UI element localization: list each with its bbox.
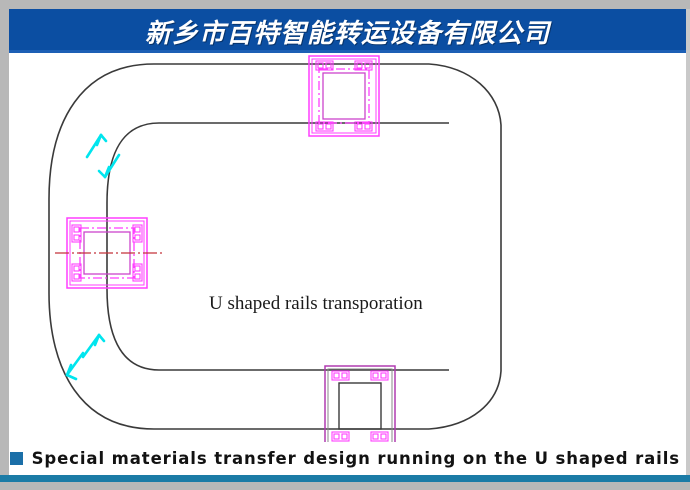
rail-outer <box>49 64 429 429</box>
frame-right-strip <box>686 9 690 490</box>
square-bullet-icon <box>10 452 23 465</box>
bottom-accent-bar <box>0 475 690 482</box>
caption-text: Special materials transfer design runnin… <box>32 449 680 468</box>
trolley-top <box>309 56 379 136</box>
trolley-bottom-wheels <box>332 371 388 441</box>
frame-bottom-strip <box>0 482 690 490</box>
rail-right-end <box>429 64 501 429</box>
rail-inner <box>107 123 449 370</box>
u-shaped-rails-diagram <box>9 53 686 448</box>
header-band: 新乡市百特智能转运设备有限公司 <box>9 9 686 53</box>
trolley-top-wheels <box>316 61 372 131</box>
diagram-label: U shaped rails transporation <box>209 293 423 315</box>
drawing-canvas: U shaped rails transporation <box>9 53 686 448</box>
slide: 新乡市百特智能转运设备有限公司 <box>0 0 690 490</box>
frame-left-strip <box>0 9 9 490</box>
trolley-bottom <box>325 366 395 446</box>
company-name-title: 新乡市百特智能转运设备有限公司 <box>145 13 550 50</box>
frame-top-strip <box>0 0 690 9</box>
caption-strip: Special materials transfer design runnin… <box>9 442 686 475</box>
trolley-left <box>55 218 165 288</box>
direction-arrow-lower <box>67 335 104 379</box>
caption-inner: Special materials transfer design runnin… <box>10 449 680 468</box>
